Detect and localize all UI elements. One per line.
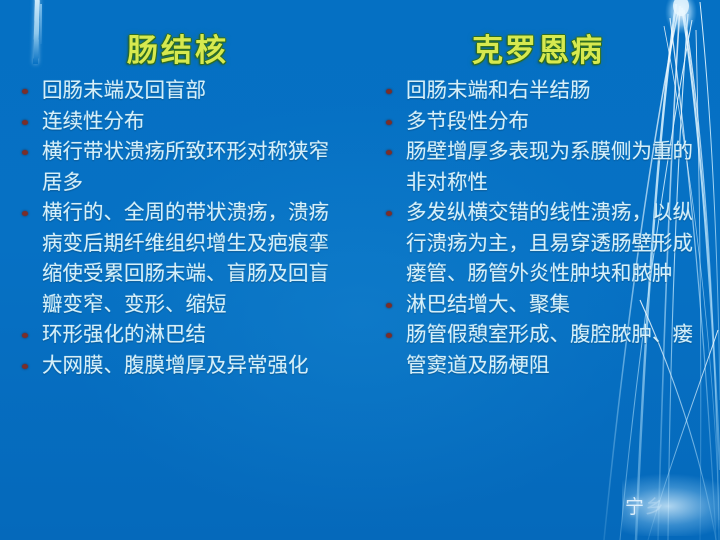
list-item: 淋巴结增大、聚集	[380, 290, 706, 321]
list-item: 肠管假憩室形成、腹腔脓肿、瘘管窦道及肠梗阻	[380, 320, 706, 381]
list-item: 多发纵横交错的线性溃疡，以纵行溃疡为主，且易穿透肠壁形成瘘管、肠管外炎性肿块和脓…	[380, 198, 706, 290]
list-item: 回肠末端及回盲部	[16, 76, 346, 107]
list-item: 回肠末端和右半结肠	[380, 76, 706, 107]
list-item: 肠壁增厚多表现为系膜侧为重的非对称性	[380, 137, 706, 198]
list-item: 大网膜、腹膜增厚及异常强化	[16, 351, 346, 382]
list-item: 横行带状溃疡所致环形对称狭窄居多	[16, 137, 346, 198]
list-item: 横行的、全周的带状溃疡，溃疡病变后期纤维组织增生及疤痕挛缩使受累回肠末端、盲肠及…	[16, 198, 346, 320]
bullet-list-left: 回肠末端及回盲部 连续性分布 横行带状溃疡所致环形对称狭窄居多 横行的、全周的带…	[6, 76, 350, 381]
column-intestinal-tuberculosis: 肠结核 回肠末端及回盲部 连续性分布 横行带状溃疡所致环形对称狭窄居多 横行的、…	[0, 0, 360, 540]
two-column-comparison: 肠结核 回肠末端及回盲部 连续性分布 横行带状溃疡所致环形对称狭窄居多 横行的、…	[0, 0, 720, 540]
bullet-list-right: 回肠末端和右半结肠 多节段性分布 肠壁增厚多表现为系膜侧为重的非对称性 多发纵横…	[366, 76, 710, 381]
column-title-left: 肠结核	[6, 0, 350, 76]
column-title-right: 克罗恩病	[366, 0, 710, 76]
list-item: 多节段性分布	[380, 107, 706, 138]
list-item: 连续性分布	[16, 107, 346, 138]
slide-canvas: 宁乡 肠结核 回肠末端及回盲部 连续性分布 横行带状溃疡所致环形对称狭窄居多 横…	[0, 0, 720, 540]
list-item: 环形强化的淋巴结	[16, 320, 346, 351]
column-crohns-disease: 克罗恩病 回肠末端和右半结肠 多节段性分布 肠壁增厚多表现为系膜侧为重的非对称性…	[360, 0, 720, 540]
